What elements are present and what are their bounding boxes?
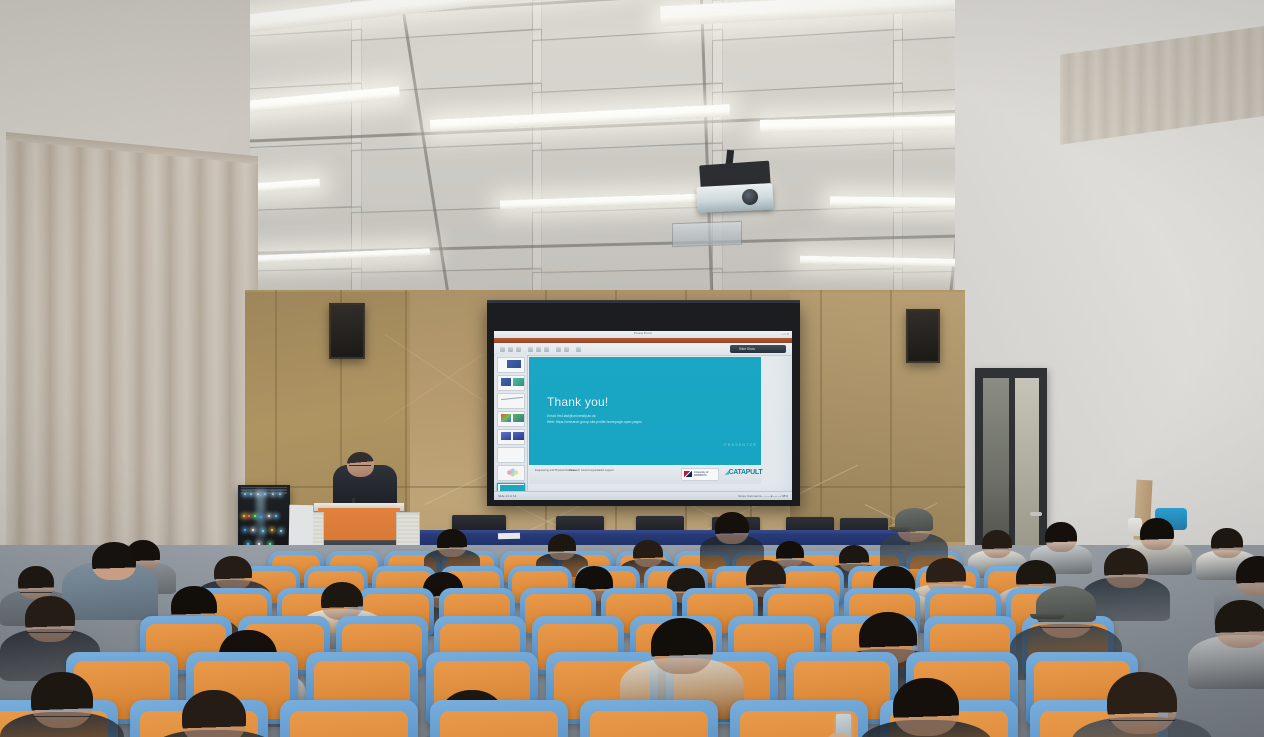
audience-head (651, 618, 713, 674)
audience-member (1072, 672, 1212, 737)
lecture-hall-photo: PowerPoint – □ ✕ Slide Show (0, 0, 1264, 737)
audience-head (548, 534, 576, 560)
seat-frame (280, 700, 418, 737)
audience-head (321, 582, 363, 620)
audience-head (1045, 522, 1077, 552)
cap-brim (1030, 614, 1065, 619)
audience-head (982, 530, 1012, 558)
audience-head (1107, 672, 1177, 734)
seat-cushion (290, 711, 409, 737)
audience-member (0, 672, 124, 737)
eyeglasses (1109, 720, 1175, 724)
seat-frame (580, 700, 718, 737)
audience-head-profile (92, 542, 136, 580)
audience-head (715, 512, 749, 544)
audience-head (1236, 556, 1264, 596)
audience-head (437, 529, 467, 557)
audience-head (633, 540, 663, 567)
audience-head (893, 678, 959, 736)
audience-head (1104, 548, 1148, 588)
audience-head (182, 690, 246, 737)
audience-seat[interactable] (430, 700, 568, 737)
seat-cushion (440, 711, 559, 737)
cap-brim (889, 527, 910, 532)
eyeglasses (1040, 627, 1092, 631)
audience-seat[interactable] (280, 700, 418, 737)
audience-head (214, 556, 252, 590)
audience-member (150, 690, 278, 737)
seat-frame (430, 700, 568, 737)
eyeglasses (27, 632, 73, 636)
audience-seat[interactable] (580, 700, 718, 737)
eyeglasses (33, 716, 91, 720)
audience-head (1211, 528, 1243, 558)
audience-head (1215, 600, 1264, 648)
audience-head (1140, 518, 1174, 550)
seat-cushion (590, 711, 709, 737)
audience-member (860, 678, 992, 737)
